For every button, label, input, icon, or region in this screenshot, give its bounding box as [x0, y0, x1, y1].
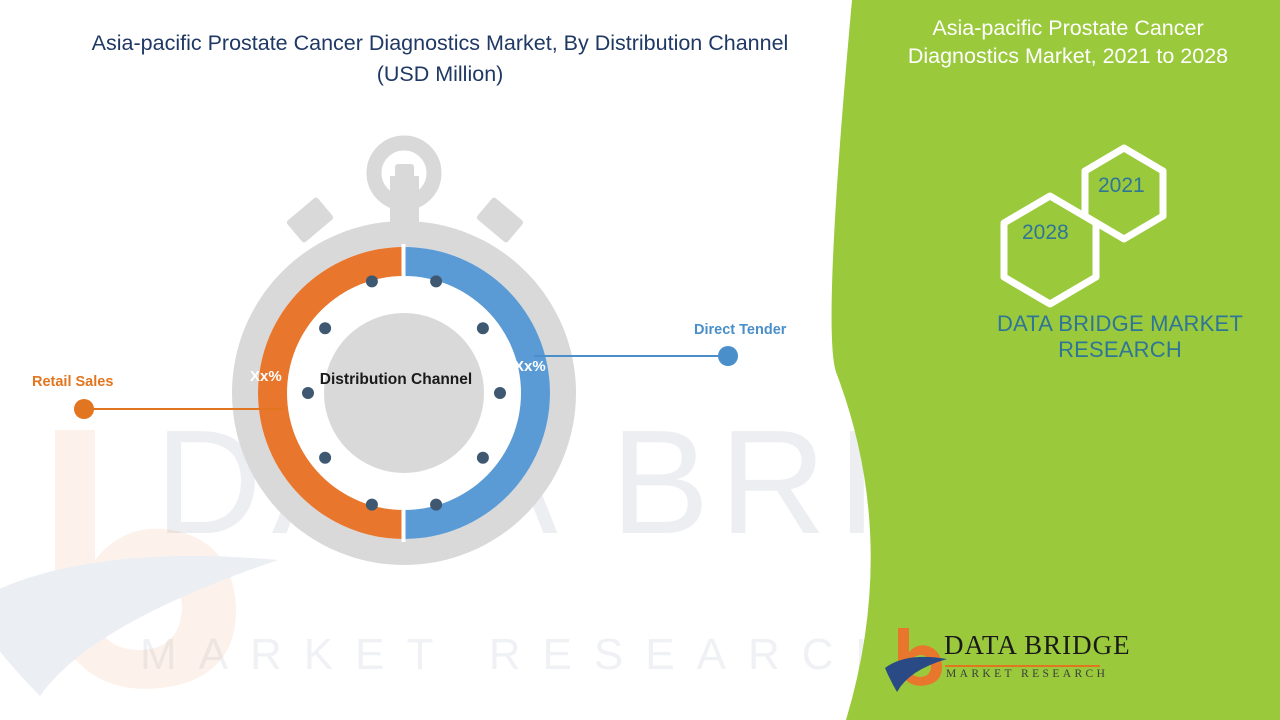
legend-label-direct-tender: Direct Tender [694, 322, 786, 338]
segment-divider-bottom [402, 510, 406, 542]
donut-center-label: Distribution Channel [310, 368, 482, 392]
legend-label-retail-sales: Retail Sales [32, 374, 113, 390]
databridge-b-icon [884, 626, 948, 696]
hexagon-2021-label: 2021 [1098, 174, 1145, 198]
watermark-subtitle: MARKET RESEARCH [140, 630, 909, 680]
stopwatch-crown-icon [374, 143, 434, 228]
segment-divider-top [402, 244, 406, 276]
callout-dot-direct-tender [718, 346, 738, 366]
hexagon-2028-label: 2028 [1022, 221, 1069, 245]
callout-line-direct-tender [534, 355, 730, 357]
logo-primary-text: DATA BRIDGE [944, 630, 1131, 661]
logo-divider [945, 665, 1100, 667]
hexagon-2028-shape [1004, 196, 1096, 304]
page-title: Asia-pacific Prostate Cancer Diagnostics… [40, 28, 840, 90]
direct-tender-percent: Xx% [514, 358, 546, 375]
panel-title: Asia-pacific Prostate Cancer Diagnostics… [890, 14, 1246, 70]
callout-line-retail-sales [84, 408, 284, 410]
donut-chart [212, 128, 597, 573]
brand-name: DATA BRIDGE MARKET RESEARCH [960, 311, 1280, 363]
donut-hub [324, 313, 484, 473]
company-logo: DATA BRIDGE MARKET RESEARCH [884, 626, 1108, 700]
panel-title-line1: Asia-pacific Prostate Cancer [890, 14, 1246, 42]
page-title-line2: (USD Million) [40, 59, 840, 90]
retail-sales-percent: Xx% [250, 368, 282, 385]
callout-dot-retail-sales [74, 399, 94, 419]
donut-center-line1: Distribution Channel [310, 368, 482, 392]
page-title-line1: Asia-pacific Prostate Cancer Diagnostics… [40, 28, 840, 59]
logo-secondary-text: MARKET RESEARCH [946, 668, 1108, 680]
brand-name-line2: RESEARCH [960, 337, 1280, 363]
brand-name-line1: DATA BRIDGE MARKET [960, 311, 1280, 337]
infographic-slide: DATA BRIDGE MARKET RESEARCH Asia-pacific… [0, 0, 1280, 720]
panel-title-line2: Diagnostics Market, 2021 to 2028 [890, 42, 1246, 70]
